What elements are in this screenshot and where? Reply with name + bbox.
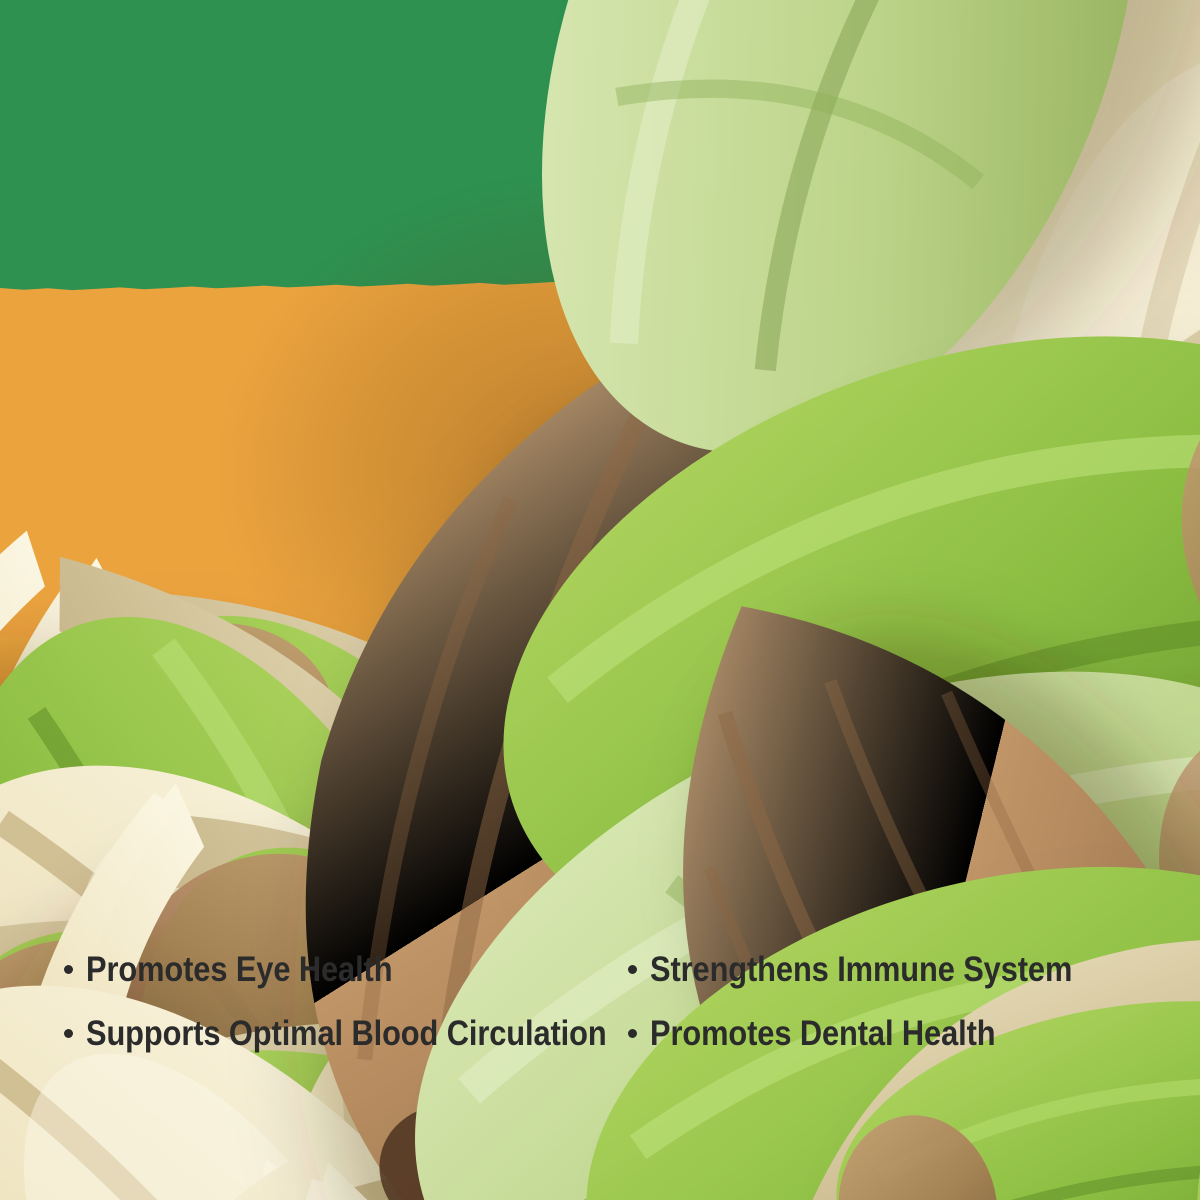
benefit-blood-circulation: Supports Optimal Blood Circulation (0, 1016, 620, 1052)
benefit-immune-system: Strengthens Immune System (620, 952, 1200, 988)
benefit-dental-health: Promotes Dental Health (620, 1016, 1200, 1052)
bullet-icon (628, 1029, 637, 1038)
benefit-eye-health: Promotes Eye Health (0, 952, 620, 988)
benefit-label: Supports Optimal Blood Circulation (86, 1016, 607, 1052)
benefit-label: Promotes Dental Health (650, 1016, 996, 1052)
poster-canvas: Promotes Eye Health Strengthens Immune S… (0, 0, 1200, 1200)
benefits-list: Promotes Eye Health Strengthens Immune S… (0, 952, 1200, 1053)
bullet-icon (64, 965, 73, 974)
benefit-label: Strengthens Immune System (650, 952, 1072, 988)
bullet-icon (628, 965, 637, 974)
benefit-label: Promotes Eye Health (86, 952, 392, 988)
bullet-icon (64, 1029, 73, 1038)
